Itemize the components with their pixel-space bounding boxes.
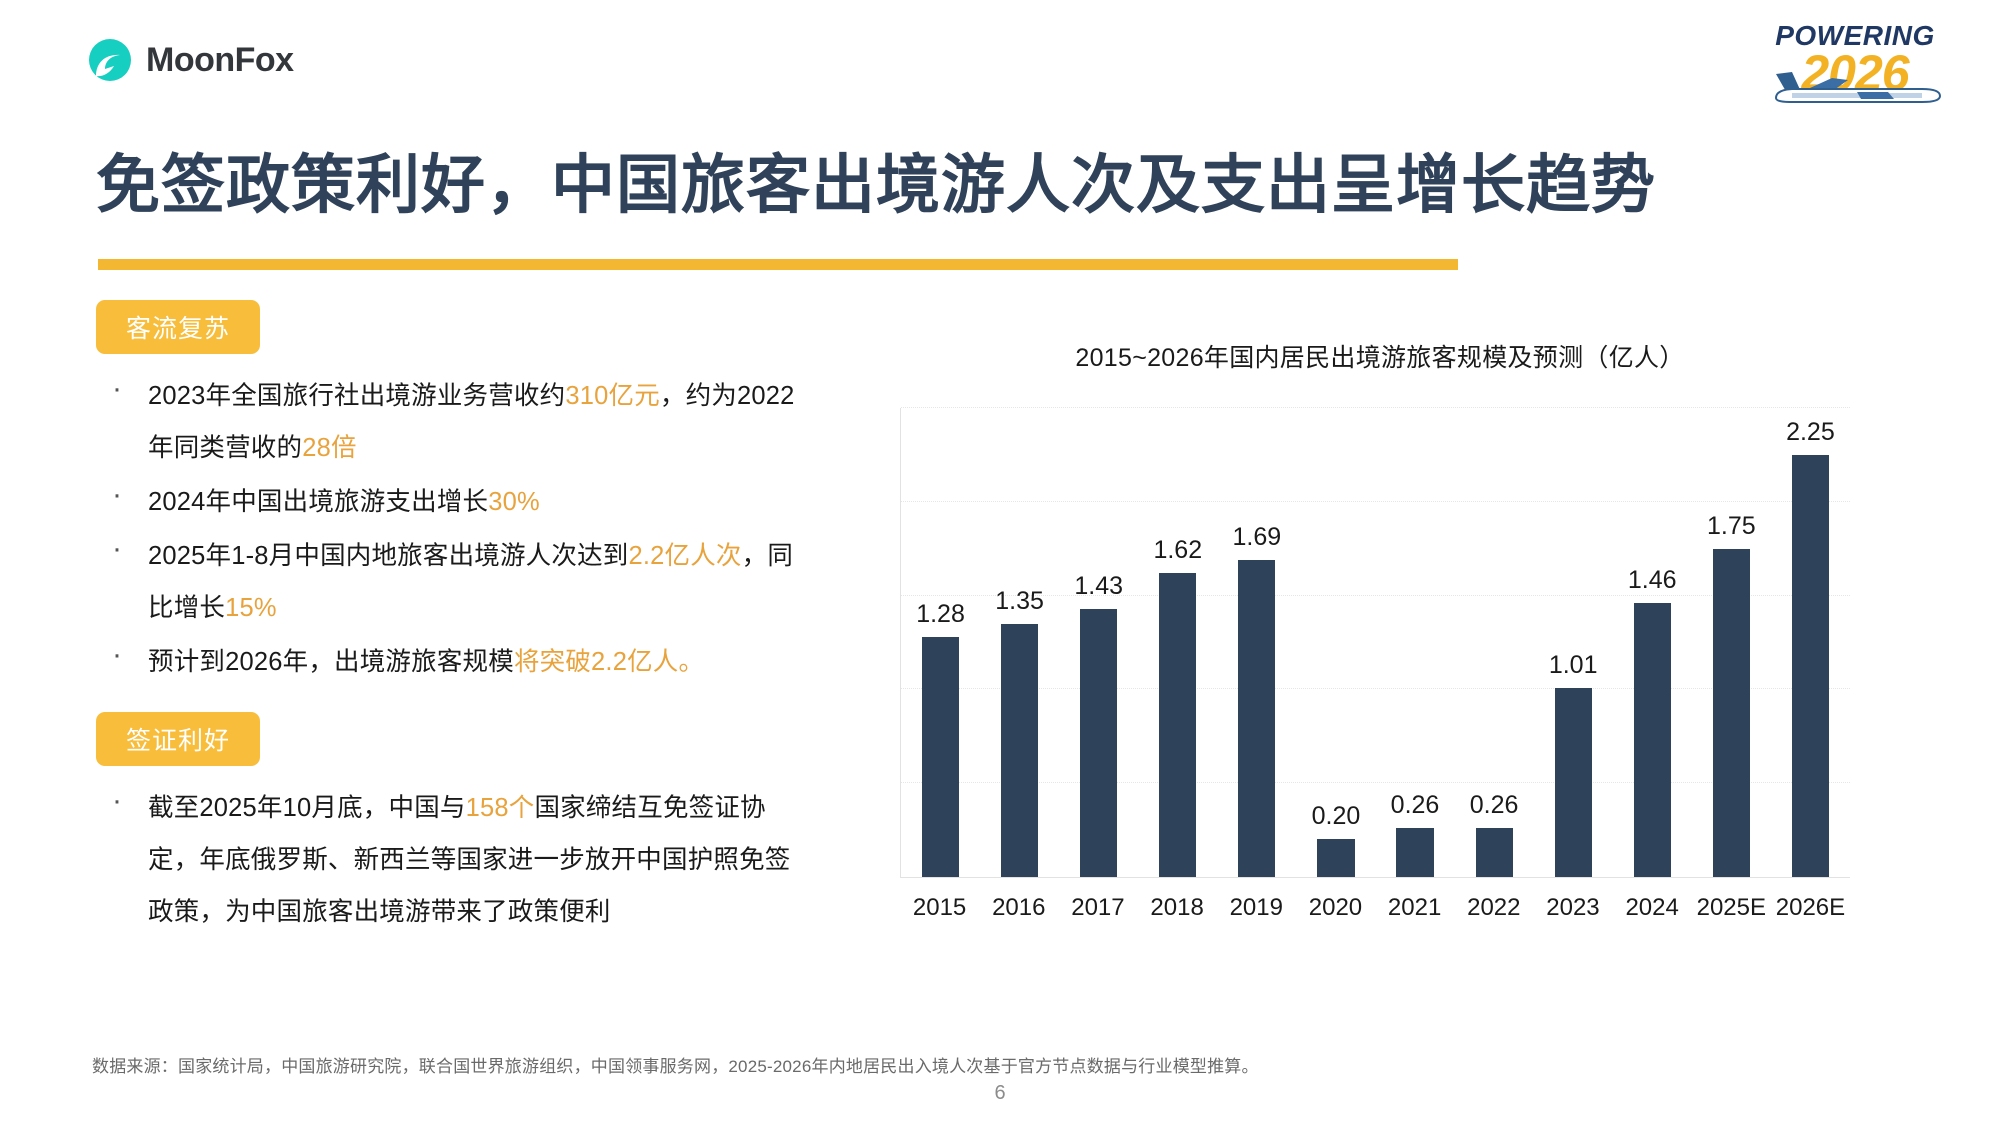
bullet-highlight: 30% xyxy=(488,488,540,516)
bar-slot: 0.20 xyxy=(1296,408,1375,877)
page-number: 6 xyxy=(0,1082,2000,1105)
x-axis-tick: 2021 xyxy=(1375,894,1454,922)
list-item: 2023年全国旅行社出境游业务营收约310亿元，约为2022年同类营收的28倍 xyxy=(96,370,796,474)
x-axis-tick: 2020 xyxy=(1296,894,1375,922)
bar-value-label: 1.62 xyxy=(1138,536,1217,565)
bar xyxy=(1713,549,1750,877)
bar-slot: 0.26 xyxy=(1455,408,1534,877)
bar-value-label: 1.28 xyxy=(901,600,980,629)
bar xyxy=(1792,455,1829,877)
brand-logo: MoonFox xyxy=(88,38,294,82)
bar-value-label: 1.35 xyxy=(980,587,1059,616)
outbound-travel-bar-chart: 2015~2026年国内居民出境游旅客规模及预测（亿人） 1.281.351.4… xyxy=(880,338,1940,958)
bar-slot: 1.46 xyxy=(1613,408,1692,877)
bar xyxy=(1317,839,1354,877)
powering-2026-badge: POWERING 2026 xyxy=(1760,16,1950,108)
bullet-seg: 预计到2026年，出境游旅客规模 xyxy=(148,648,514,676)
bar-slot: 0.26 xyxy=(1375,408,1454,877)
bullet-seg: 2025年1-8月中国内地旅客出境游人次达到 xyxy=(148,542,628,570)
bar-slot: 1.69 xyxy=(1217,408,1296,877)
bullet-seg: 2024年中国出境旅游支出增长 xyxy=(148,488,488,516)
section-tag-traffic-recovery: 客流复苏 xyxy=(96,300,260,354)
x-axis-tick: 2023 xyxy=(1533,894,1612,922)
chart-plot-area: 1.281.351.431.621.690.200.260.261.011.46… xyxy=(900,408,1850,878)
x-axis-tick: 2015 xyxy=(900,894,979,922)
list-item: 2024年中国出境旅游支出增长30% xyxy=(96,476,796,528)
airplane-icon xyxy=(1762,68,1948,108)
chart-title: 2015~2026年国内居民出境游旅客规模及预测（亿人） xyxy=(880,338,1880,374)
bullet-highlight: 将突破2.2亿人。 xyxy=(514,648,704,676)
bullet-highlight: 2.2亿人次 xyxy=(628,542,741,570)
bar xyxy=(1001,624,1038,877)
bar-slot: 2.25 xyxy=(1771,408,1850,877)
chart-x-axis: 2015201620172018201920202021202220232024… xyxy=(900,894,1850,922)
x-axis-tick: 2024 xyxy=(1613,894,1692,922)
bullet-highlight: 310亿元 xyxy=(565,382,660,410)
bar xyxy=(1159,573,1196,877)
bar xyxy=(922,637,959,877)
source-note: 数据来源：国家统计局，中国旅游研究院，联合国世界旅游组织，中国领事服务网，202… xyxy=(92,1052,1259,1077)
bar xyxy=(1080,609,1117,877)
insights-column: 客流复苏 2023年全国旅行社出境游业务营收约310亿元，约为2022年同类营收… xyxy=(96,300,796,940)
bar-value-label: 2.25 xyxy=(1771,418,1850,447)
moonfox-circle-icon xyxy=(88,38,132,82)
bullet-highlight: 158个 xyxy=(466,794,535,822)
bar-value-label: 1.69 xyxy=(1217,523,1296,552)
page-title: 免签政策利好，中国旅客出境游人次及支出呈增长趋势 xyxy=(96,134,1656,226)
bar-slot: 1.35 xyxy=(980,408,1059,877)
bullet-highlight: 15% xyxy=(225,594,277,622)
title-underline xyxy=(98,259,1458,270)
x-axis-tick: 2025E xyxy=(1692,894,1771,922)
bullet-seg: 2023年全国旅行社出境游业务营收约 xyxy=(148,382,565,410)
bar-slot: 1.62 xyxy=(1138,408,1217,877)
bullet-seg: 截至2025年10月底，中国与 xyxy=(148,794,466,822)
brand-name: MoonFox xyxy=(146,41,294,80)
chart-bars: 1.281.351.431.621.690.200.260.261.011.46… xyxy=(901,408,1850,877)
list-item: 截至2025年10月底，中国与158个国家缔结互免签证协定，年底俄罗斯、新西兰等… xyxy=(96,782,796,938)
bar-value-label: 0.26 xyxy=(1455,791,1534,820)
x-axis-tick: 2016 xyxy=(979,894,1058,922)
bar xyxy=(1476,828,1513,877)
bullet-list-traffic-recovery: 2023年全国旅行社出境游业务营收约310亿元，约为2022年同类营收的28倍 … xyxy=(96,370,796,688)
bar-value-label: 0.20 xyxy=(1296,802,1375,831)
bar xyxy=(1238,560,1275,877)
bar-slot: 1.75 xyxy=(1692,408,1771,877)
bar-slot: 1.43 xyxy=(1059,408,1138,877)
bullet-list-visa-benefit: 截至2025年10月底，中国与158个国家缔结互免签证协定，年底俄罗斯、新西兰等… xyxy=(96,782,796,938)
bar-value-label: 1.46 xyxy=(1613,566,1692,595)
list-item: 预计到2026年，出境游旅客规模将突破2.2亿人。 xyxy=(96,636,796,688)
bar xyxy=(1555,688,1592,877)
list-item: 2025年1-8月中国内地旅客出境游人次达到2.2亿人次，同比增长15% xyxy=(96,530,796,634)
bar-value-label: 1.43 xyxy=(1059,572,1138,601)
x-axis-tick: 2018 xyxy=(1138,894,1217,922)
bar xyxy=(1396,828,1433,877)
x-axis-tick: 2022 xyxy=(1454,894,1533,922)
bar-slot: 1.28 xyxy=(901,408,980,877)
bar-value-label: 0.26 xyxy=(1375,791,1454,820)
x-axis-tick: 2026E xyxy=(1771,894,1850,922)
bar-value-label: 1.75 xyxy=(1692,512,1771,541)
bullet-highlight: 28倍 xyxy=(302,434,356,462)
bar-value-label: 1.01 xyxy=(1534,651,1613,680)
x-axis-tick: 2019 xyxy=(1217,894,1296,922)
x-axis-tick: 2017 xyxy=(1058,894,1137,922)
section-tag-visa-benefit: 签证利好 xyxy=(96,712,260,766)
bar-slot: 1.01 xyxy=(1534,408,1613,877)
bar xyxy=(1634,603,1671,877)
